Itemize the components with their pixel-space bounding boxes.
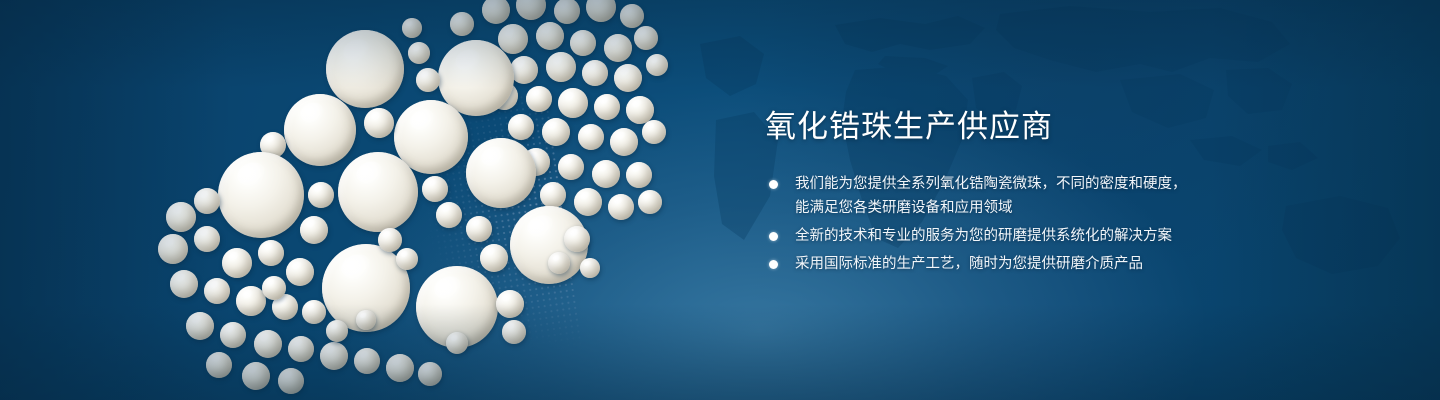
- page-title: 氧化锆珠生产供应商: [765, 108, 1385, 146]
- list-item-line-1: 采用国际标准的生产工艺，随时为您提供研磨介质产品: [795, 252, 1385, 276]
- list-item: 采用国际标准的生产工艺，随时为您提供研磨介质产品: [765, 252, 1385, 276]
- banner-content: 氧化锆珠生产供应商 我们能为您提供全系列氧化锆陶瓷微珠，不同的密度和硬度， 能满…: [765, 108, 1385, 280]
- bead-cluster: [150, 0, 730, 400]
- feature-list: 我们能为您提供全系列氧化锆陶瓷微珠，不同的密度和硬度， 能满足您各类研磨设备和应…: [765, 172, 1385, 276]
- bullet-dot-icon: [769, 260, 778, 269]
- hero-banner: 氧化锆珠生产供应商 我们能为您提供全系列氧化锆陶瓷微珠，不同的密度和硬度， 能满…: [0, 0, 1440, 400]
- bullet-dot-icon: [769, 180, 778, 189]
- list-item: 全新的技术和专业的服务为您的研磨提供系统化的解决方案: [765, 224, 1385, 248]
- list-item-line-2: 能满足您各类研磨设备和应用领域: [795, 196, 1385, 220]
- halftone-fade-edge: [251, 91, 590, 400]
- list-item: 我们能为您提供全系列氧化锆陶瓷微珠，不同的密度和硬度， 能满足您各类研磨设备和应…: [765, 172, 1385, 220]
- list-item-line-1: 全新的技术和专业的服务为您的研磨提供系统化的解决方案: [795, 224, 1385, 248]
- zirconia-beads-photo: [150, 0, 730, 400]
- list-item-line-1: 我们能为您提供全系列氧化锆陶瓷微珠，不同的密度和硬度，: [795, 172, 1385, 196]
- bullet-dot-icon: [769, 232, 778, 241]
